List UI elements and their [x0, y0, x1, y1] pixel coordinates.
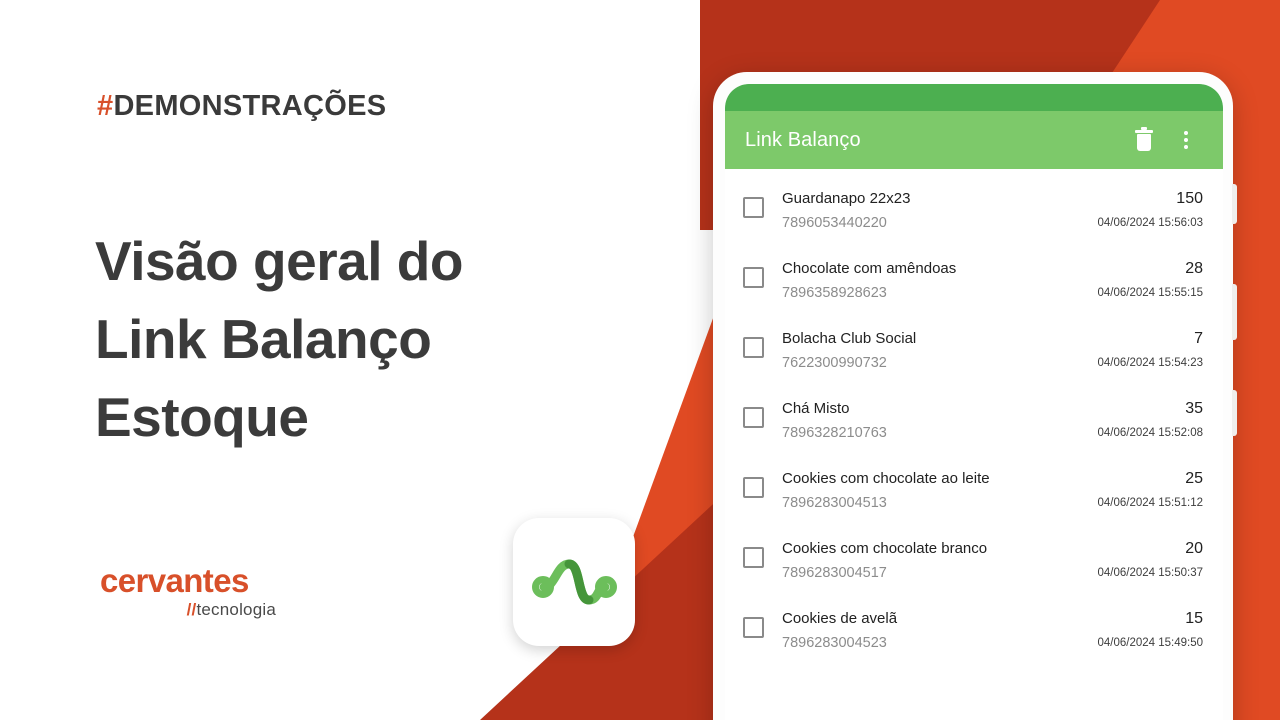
phone-screen: Link Balanço: [725, 84, 1223, 720]
link-balanco-app-icon[interactable]: [513, 518, 635, 646]
row-checkbox[interactable]: [743, 477, 764, 498]
cervantes-logo: cervantes //tecnologia: [100, 563, 300, 620]
delete-button[interactable]: [1123, 119, 1165, 161]
product-quantity: 150: [1097, 189, 1203, 209]
product-timestamp: 04/06/2024 15:56:03: [1097, 213, 1203, 233]
product-name: Chá Misto: [782, 399, 1087, 419]
page-title: Visão geral do Link Balanço Estoque: [95, 222, 463, 456]
product-quantity: 15: [1097, 609, 1203, 629]
list-item[interactable]: Bolacha Club Social 7622300990732 7 04/0…: [725, 315, 1223, 385]
list-item[interactable]: Cookies de avelã 7896283004523 15 04/06/…: [725, 595, 1223, 665]
power-button[interactable]: [1232, 390, 1237, 436]
product-quantity: 7: [1097, 329, 1203, 349]
volume-up-button[interactable]: [1232, 184, 1237, 224]
logo-slashes: //: [187, 600, 197, 619]
more-vertical-icon: [1184, 131, 1188, 149]
product-name: Guardanapo 22x23: [782, 189, 1087, 209]
title-line-2: Link Balanço: [95, 300, 463, 378]
status-bar: [725, 84, 1223, 111]
product-code: 7896328210763: [782, 423, 1087, 443]
volume-down-button[interactable]: [1232, 284, 1237, 340]
product-name: Cookies de avelã: [782, 609, 1087, 629]
list-item[interactable]: Guardanapo 22x23 7896053440220 150 04/06…: [725, 175, 1223, 245]
logo-tagline: //tecnologia: [100, 600, 276, 620]
hash-symbol: #: [97, 90, 113, 122]
product-code: 7896358928623: [782, 283, 1087, 303]
product-timestamp: 04/06/2024 15:49:50: [1097, 633, 1203, 653]
row-checkbox[interactable]: [743, 617, 764, 638]
app-bar: Link Balanço: [725, 111, 1223, 169]
product-quantity: 35: [1097, 399, 1203, 419]
product-timestamp: 04/06/2024 15:52:08: [1097, 423, 1203, 443]
product-code: 7896053440220: [782, 213, 1087, 233]
row-checkbox[interactable]: [743, 407, 764, 428]
overflow-menu-button[interactable]: [1165, 119, 1207, 161]
product-timestamp: 04/06/2024 15:54:23: [1097, 353, 1203, 373]
row-checkbox[interactable]: [743, 337, 764, 358]
slide-canvas: #DEMONSTRAÇÕES Visão geral do Link Balan…: [0, 0, 1280, 720]
product-quantity: 28: [1097, 259, 1203, 279]
logo-tagline-text: tecnologia: [196, 600, 276, 619]
product-name: Cookies com chocolate ao leite: [782, 469, 1087, 489]
inventory-list[interactable]: Guardanapo 22x23 7896053440220 150 04/06…: [725, 169, 1223, 665]
list-item[interactable]: Cookies com chocolate ao leite 789628300…: [725, 455, 1223, 525]
product-code: 7896283004513: [782, 493, 1087, 513]
category-tag-label: DEMONSTRAÇÕES: [113, 90, 386, 122]
phone-mockup: Link Balanço: [713, 72, 1233, 720]
app-icon-glyph: [531, 546, 617, 618]
category-tag: #DEMONSTRAÇÕES: [97, 90, 386, 123]
row-checkbox[interactable]: [743, 267, 764, 288]
title-line-1: Visão geral do: [95, 222, 463, 300]
product-quantity: 20: [1097, 539, 1203, 559]
product-name: Bolacha Club Social: [782, 329, 1087, 349]
app-bar-title: Link Balanço: [745, 129, 1123, 152]
trash-icon: [1135, 130, 1153, 151]
product-timestamp: 04/06/2024 15:55:15: [1097, 283, 1203, 303]
list-item[interactable]: Chocolate com amêndoas 7896358928623 28 …: [725, 245, 1223, 315]
product-code: 7896283004523: [782, 633, 1087, 653]
product-timestamp: 04/06/2024 15:50:37: [1097, 563, 1203, 583]
logo-wordmark: cervantes: [100, 563, 300, 599]
product-name: Cookies com chocolate branco: [782, 539, 1087, 559]
row-checkbox[interactable]: [743, 197, 764, 218]
list-item[interactable]: Chá Misto 7896328210763 35 04/06/2024 15…: [725, 385, 1223, 455]
list-item[interactable]: Cookies com chocolate branco 78962830045…: [725, 525, 1223, 595]
product-timestamp: 04/06/2024 15:51:12: [1097, 493, 1203, 513]
title-line-3: Estoque: [95, 378, 463, 456]
product-code: 7622300990732: [782, 353, 1087, 373]
product-quantity: 25: [1097, 469, 1203, 489]
product-code: 7896283004517: [782, 563, 1087, 583]
row-checkbox[interactable]: [743, 547, 764, 568]
product-name: Chocolate com amêndoas: [782, 259, 1087, 279]
